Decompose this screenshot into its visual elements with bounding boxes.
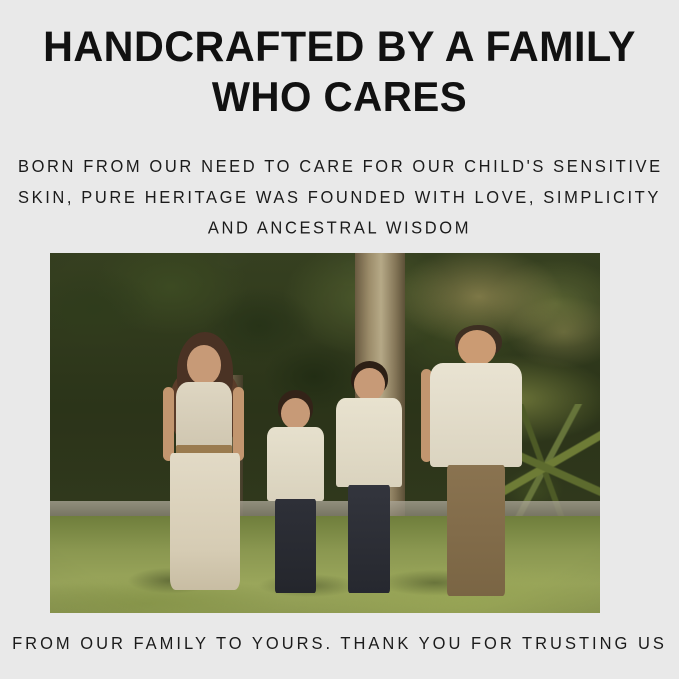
younger-boy-trousers <box>275 499 316 593</box>
person-younger-boy <box>254 390 337 595</box>
family-photo <box>50 253 600 613</box>
footer-tagline: FROM OUR FAMILY TO YOURS. THANK YOU FOR … <box>0 632 679 655</box>
person-father <box>419 325 535 599</box>
father-trousers <box>447 465 505 596</box>
younger-boy-shirt <box>267 427 325 501</box>
intro-line-2: SKIN, PURE HERITAGE WAS FOUNDED WITH LOV… <box>18 183 661 214</box>
father-shirt <box>430 363 522 467</box>
father-head <box>458 330 496 366</box>
intro-line-3: AND ANCESTRAL WISDOM <box>18 213 661 244</box>
headline-line-2: WHO CARES <box>14 72 666 122</box>
person-mother <box>144 332 265 595</box>
intro-paragraph: BORN FROM OUR NEED TO CARE FOR OUR CHILD… <box>18 152 661 244</box>
person-older-boy <box>325 361 413 595</box>
mother-right-arm <box>233 387 244 461</box>
mother-left-arm <box>163 387 174 461</box>
mother-head <box>187 345 221 384</box>
older-boy-shirt <box>336 398 401 487</box>
older-boy-trousers <box>348 485 390 593</box>
headline-line-1: HANDCRAFTED BY A FAMILY <box>14 22 666 72</box>
younger-boy-head <box>281 398 310 429</box>
intro-line-1: BORN FROM OUR NEED TO CARE FOR OUR CHILD… <box>18 152 661 183</box>
page-title: HANDCRAFTED BY A FAMILY WHO CARES <box>14 22 666 122</box>
brand-story-card: HANDCRAFTED BY A FAMILY WHO CARES BORN F… <box>0 0 679 679</box>
mother-skirt <box>170 453 240 590</box>
older-boy-head <box>354 368 385 401</box>
mother-top <box>176 382 232 450</box>
